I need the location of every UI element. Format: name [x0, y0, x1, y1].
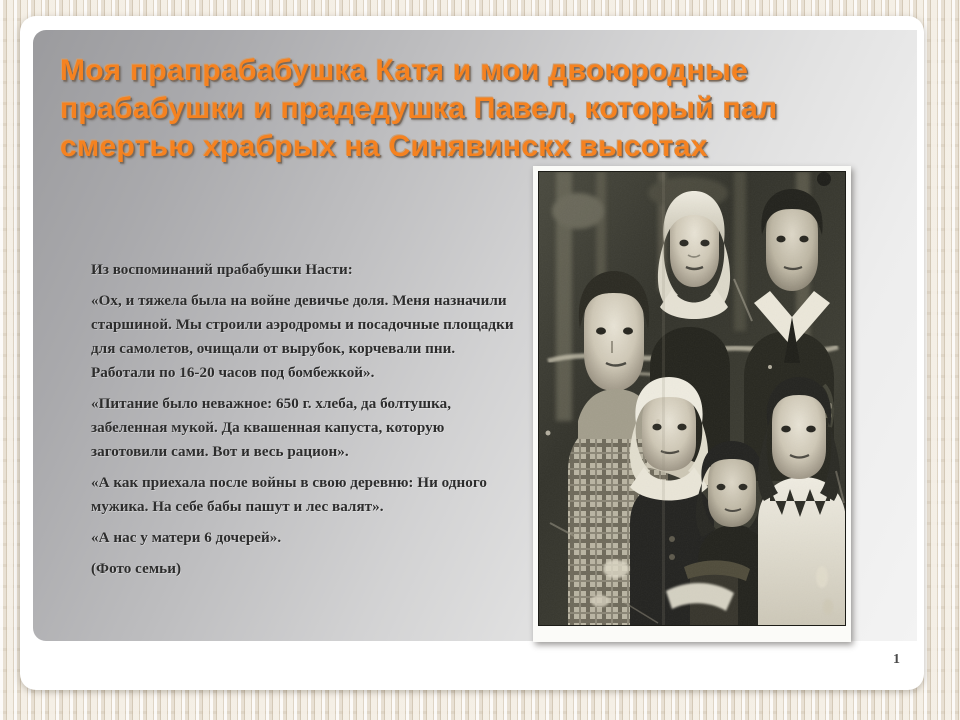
memoir-intro: Из воспоминаний прабабушки Насти: — [91, 258, 523, 282]
family-photograph-frame — [533, 166, 851, 642]
family-photograph-image — [538, 171, 846, 626]
family-photograph — [538, 171, 846, 626]
presentation-background: Моя прапрабабушка Катя и мои двоюродные … — [0, 0, 960, 720]
page-title: Моя прапрабабушка Катя и мои двоюродные … — [60, 52, 850, 166]
memoir-text-block: Из воспоминаний прабабушки Насти: «Ох, и… — [91, 258, 523, 588]
memoir-quote-4: «А нас у матери 6 дочерей». — [91, 526, 523, 550]
title-line-2: прабабушки и прадедушка Павел, который п… — [60, 90, 850, 128]
memoir-quote-1: «Ох, и тяжела была на войне девичье доля… — [91, 289, 523, 385]
memoir-quote-2: «Питание было неважное: 650 г. хлеба, да… — [91, 392, 523, 464]
photo-caption-note: (Фото семьи) — [91, 557, 523, 581]
memoir-quote-3: «А как приехала после войны в свою дерев… — [91, 471, 523, 519]
title-line-1: Моя прапрабабушка Катя и мои двоюродные — [60, 52, 850, 90]
title-line-3: смертью храбрых на Синявинскх высотах — [60, 128, 850, 166]
slide-number: 1 — [893, 652, 900, 668]
